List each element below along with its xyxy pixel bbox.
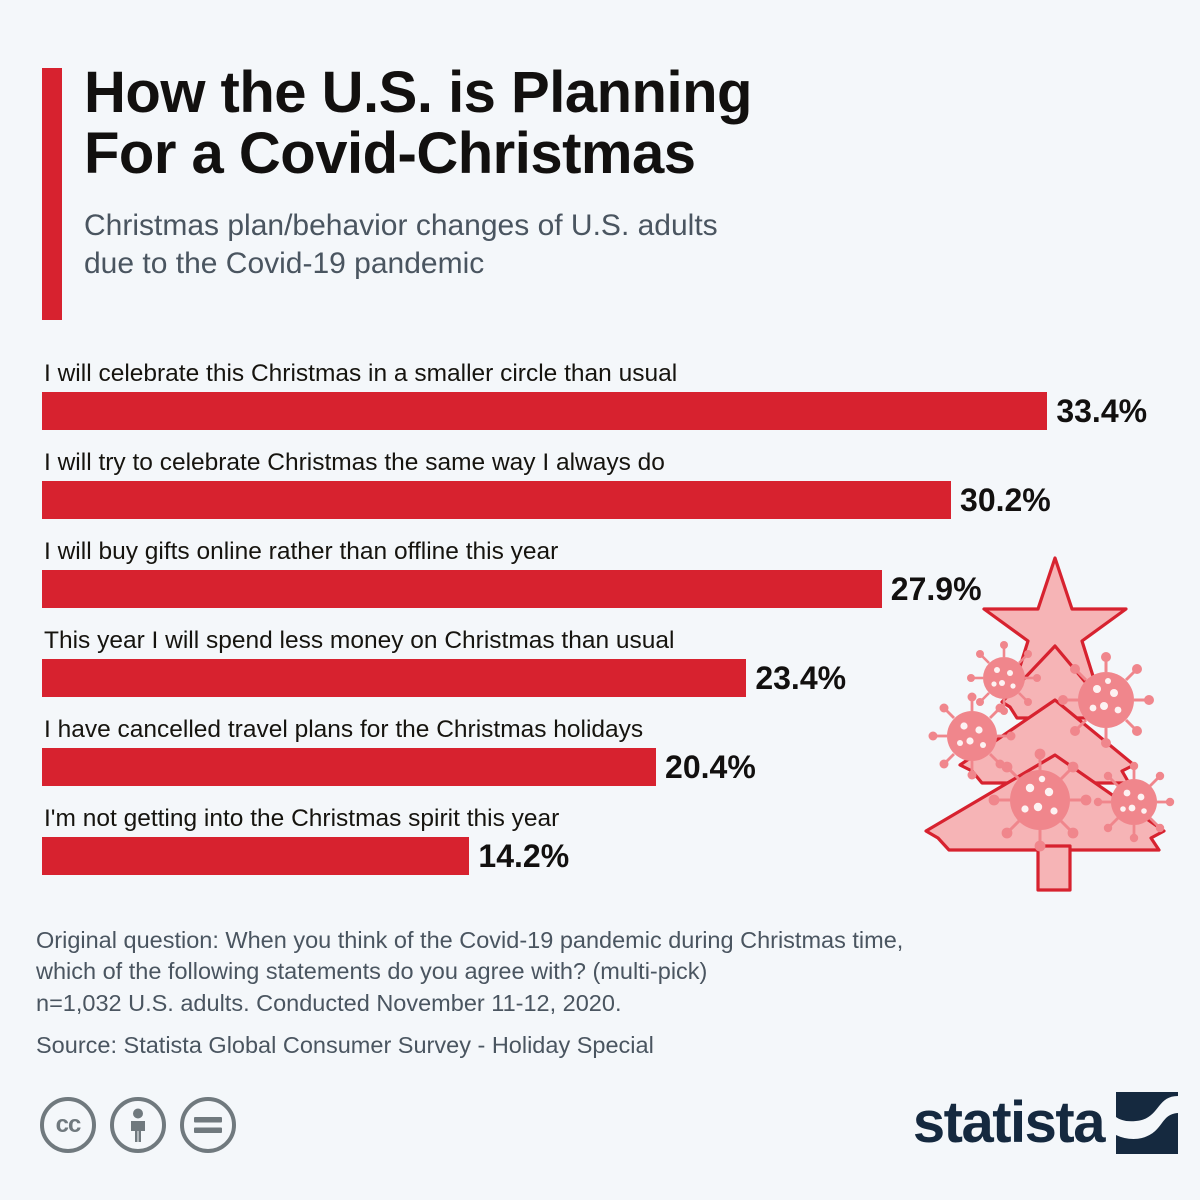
statista-logo[interactable]: statista bbox=[913, 1092, 1178, 1154]
bar-category-label: I will try to celebrate Christmas the sa… bbox=[44, 451, 665, 476]
bar-and-value: 30.2% bbox=[42, 481, 1051, 519]
bar-and-value: 14.2% bbox=[42, 837, 569, 875]
christmas-tree-illustration bbox=[916, 550, 1192, 895]
bar-category-label: I have cancelled travel plans for the Ch… bbox=[44, 718, 643, 743]
cc-icon[interactable]: cc bbox=[40, 1097, 96, 1153]
original-question-line-2: which of the following statements do you… bbox=[36, 956, 1186, 987]
bar-value-label: 20.4% bbox=[665, 751, 756, 783]
statista-wordmark: statista bbox=[913, 1094, 1104, 1152]
bar-category-label: I'm not getting into the Christmas spiri… bbox=[44, 807, 559, 832]
page-title: How the U.S. is Planning For a Covid-Chr… bbox=[84, 62, 1042, 185]
bar-and-value: 33.4% bbox=[42, 392, 1147, 430]
bar bbox=[42, 659, 746, 697]
attribution-person-icon[interactable] bbox=[110, 1097, 166, 1153]
bar bbox=[42, 570, 882, 608]
bar-value-label: 30.2% bbox=[960, 484, 1051, 516]
accent-bar bbox=[42, 68, 62, 320]
footer: cc statista bbox=[0, 1090, 1200, 1190]
bar-value-label: 14.2% bbox=[478, 840, 569, 872]
creative-commons-license-icons: cc bbox=[40, 1097, 236, 1153]
header-text: How the U.S. is Planning For a Covid-Chr… bbox=[84, 62, 1042, 283]
bar-category-label: I will buy gifts online rather than offl… bbox=[44, 540, 558, 565]
title-line-2: For a Covid-Christmas bbox=[84, 123, 1042, 184]
bar bbox=[42, 481, 951, 519]
sample-size-note: n=1,032 U.S. adults. Conducted November … bbox=[36, 988, 1186, 1019]
bar-category-label: This year I will spend less money on Chr… bbox=[44, 629, 674, 654]
title-line-1: How the U.S. is Planning bbox=[84, 62, 1042, 123]
original-question-line-1: Original question: When you think of the… bbox=[36, 925, 1186, 956]
cc-icon-label: cc bbox=[56, 1111, 81, 1139]
bar bbox=[42, 392, 1047, 430]
page-subtitle: Christmas plan/behavior changes of U.S. … bbox=[84, 207, 1042, 283]
subtitle-line-2: due to the Covid-19 pandemic bbox=[84, 245, 1042, 283]
bar-value-label: 33.4% bbox=[1056, 395, 1147, 427]
subtitle-line-1: Christmas plan/behavior changes of U.S. … bbox=[84, 207, 1042, 245]
footnotes: Original question: When you think of the… bbox=[36, 925, 1186, 1061]
bar-and-value: 23.4% bbox=[42, 659, 846, 697]
bar-and-value: 20.4% bbox=[42, 748, 756, 786]
no-derivatives-equals-icon[interactable] bbox=[180, 1097, 236, 1153]
statista-s-mark-icon bbox=[1116, 1092, 1178, 1154]
bar-row: I will try to celebrate Christmas the sa… bbox=[42, 451, 1182, 540]
bar-row: I will celebrate this Christmas in a sma… bbox=[42, 362, 1182, 451]
bar-and-value: 27.9% bbox=[42, 570, 982, 608]
bar bbox=[42, 837, 469, 875]
bar bbox=[42, 748, 656, 786]
bar-value-label: 23.4% bbox=[755, 662, 846, 694]
bar-category-label: I will celebrate this Christmas in a sma… bbox=[44, 362, 677, 387]
header: How the U.S. is Planning For a Covid-Chr… bbox=[42, 62, 1042, 283]
source-note: Source: Statista Global Consumer Survey … bbox=[36, 1030, 1186, 1061]
